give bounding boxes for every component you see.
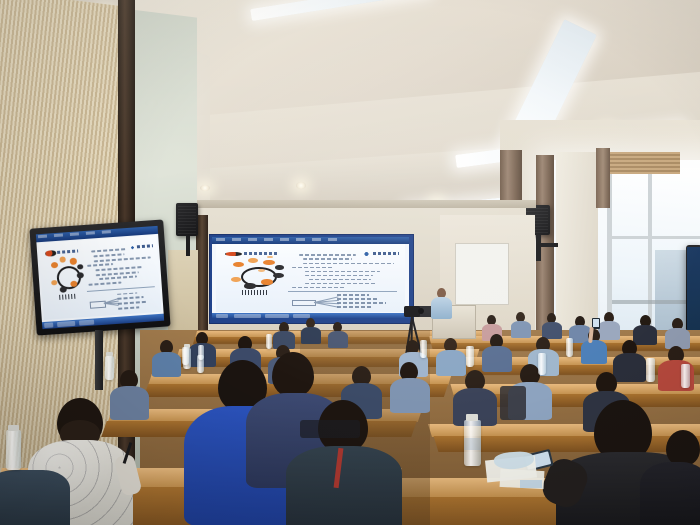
taskbar-item — [265, 314, 289, 318]
attendee — [0, 470, 70, 525]
front-wall-cornice — [196, 200, 536, 208]
water-bottle — [182, 347, 189, 365]
slide-diagram-node — [231, 277, 240, 282]
slide-mindmap-item — [337, 294, 369, 296]
downlight — [296, 182, 306, 189]
handout-paper-detail — [520, 480, 542, 488]
main-projection-screen — [209, 234, 412, 322]
attendee — [110, 386, 149, 420]
slide-text-line — [292, 267, 334, 269]
slide-logo-right-text — [136, 244, 153, 249]
water-bottle-cap — [8, 425, 19, 431]
taskbar-item — [234, 314, 262, 318]
window-mullion — [610, 236, 700, 239]
slide-diagram-node — [267, 256, 273, 259]
slide-text-line — [87, 263, 113, 267]
slide-text-line — [94, 256, 150, 262]
attendee — [613, 353, 646, 382]
attendee — [581, 340, 607, 364]
presenter — [431, 297, 452, 319]
conference-hall-photo — [0, 0, 700, 525]
slide-text-line — [305, 283, 377, 285]
photographer-phone-screen — [593, 319, 599, 327]
speaker-left — [176, 203, 198, 236]
slide-diagram-node — [60, 286, 67, 293]
slide-content-area — [216, 244, 405, 311]
taskbar-item — [57, 321, 76, 327]
left-wall-monitor — [29, 219, 170, 335]
slide-diagram-node — [233, 262, 244, 267]
water-bottle-cap — [106, 352, 113, 356]
curtain — [596, 148, 610, 208]
slide-text-line — [305, 271, 381, 273]
slide-diagram-node — [51, 262, 58, 269]
water-bottle — [681, 364, 690, 388]
attendee — [152, 352, 181, 377]
attendee — [598, 321, 620, 340]
water-bottle — [198, 345, 204, 360]
slide-text-line — [299, 254, 356, 256]
water-bottle — [646, 358, 655, 382]
slide-diagram-node — [248, 258, 257, 263]
taskbar-start-button — [216, 314, 228, 318]
slide-diagram-node — [51, 280, 57, 286]
projection-slide — [212, 237, 409, 319]
attendee — [482, 346, 512, 372]
slide-logo-right-icon — [362, 252, 371, 256]
taskbar-item — [293, 314, 311, 318]
water-bottle — [6, 430, 21, 470]
slide-diagram-node — [60, 256, 66, 262]
chair-back — [500, 386, 526, 420]
slide-diagram-node — [263, 260, 274, 265]
slide-diagram-node — [258, 269, 266, 272]
slide-mindmap-item — [337, 298, 379, 300]
slide-mindmap-item — [118, 301, 146, 305]
slide-text-line — [99, 276, 138, 281]
slide-divider — [288, 291, 398, 292]
slide-text-line — [89, 281, 122, 285]
slide-mindmap-item — [337, 306, 373, 308]
attendee-head — [666, 430, 700, 466]
whiteboard — [455, 243, 509, 305]
slide-diagram-node — [273, 273, 284, 278]
slide-mindmap-item — [337, 302, 386, 304]
window-valance — [600, 152, 680, 174]
water-bottle — [266, 334, 272, 349]
taskbar-start-button — [45, 323, 54, 328]
bottle-label — [464, 438, 481, 450]
speaker-right-bracket — [536, 235, 541, 261]
slide-text-line — [96, 266, 143, 271]
slide-diagram-node — [275, 265, 284, 270]
slide-mindmap-root — [292, 300, 317, 307]
attendee — [436, 350, 466, 376]
attendee — [640, 462, 700, 525]
slide-content-area — [39, 235, 161, 321]
slide-diagram-barcode — [59, 293, 76, 300]
slide-mindmap-item — [119, 306, 140, 309]
taskbar-item — [79, 320, 95, 325]
slide-diagram-node — [244, 283, 255, 288]
slide-diagram-node — [261, 279, 272, 284]
slide-logo-left-icon — [45, 250, 56, 256]
water-bottle — [566, 338, 573, 357]
slide-text-line — [309, 279, 371, 281]
left-monitor-slide — [36, 226, 164, 329]
chair-back — [300, 420, 360, 438]
speaker-left-bracket — [186, 236, 190, 256]
slide-text-line — [303, 258, 352, 260]
slide-text-line — [292, 287, 345, 289]
slide-logo-left-text — [57, 249, 78, 254]
slide-logo-left-icon — [225, 252, 242, 257]
right-wall-monitor — [686, 245, 700, 335]
attendee-head — [272, 352, 314, 397]
slide-menu-strip — [216, 238, 338, 241]
camera-lens-icon — [418, 308, 424, 314]
slide-logo-left-text — [244, 252, 278, 255]
slide-mindmap-item — [118, 296, 144, 300]
water-bottle — [420, 340, 427, 358]
slide-text-line — [91, 248, 126, 252]
attendee — [390, 378, 430, 413]
right-wall-monitor-screen — [687, 247, 700, 333]
slide-text-line — [305, 275, 373, 277]
water-bottle — [538, 353, 546, 375]
attendee — [511, 321, 531, 338]
speaker-right-arm — [536, 243, 558, 247]
slide-text-line — [303, 263, 394, 265]
slide-mindmap-item — [118, 292, 138, 295]
slide-diagram-barcode — [242, 290, 268, 295]
slide-logo-right-icon — [129, 245, 135, 250]
downlight — [200, 185, 210, 191]
attendee — [286, 446, 402, 525]
attendee — [633, 325, 657, 345]
water-bottle — [466, 346, 474, 367]
slide-text-line — [94, 253, 125, 257]
left-monitor-stand — [95, 330, 103, 390]
attendee — [301, 327, 321, 344]
slide-divider — [87, 286, 155, 292]
slide-logo-right-text — [373, 252, 399, 255]
water-bottle — [105, 356, 114, 380]
slide-diagram-node — [77, 264, 83, 270]
attendee — [328, 331, 348, 348]
water-bottle-cap — [466, 414, 478, 421]
slide-diagram-node — [69, 258, 76, 265]
